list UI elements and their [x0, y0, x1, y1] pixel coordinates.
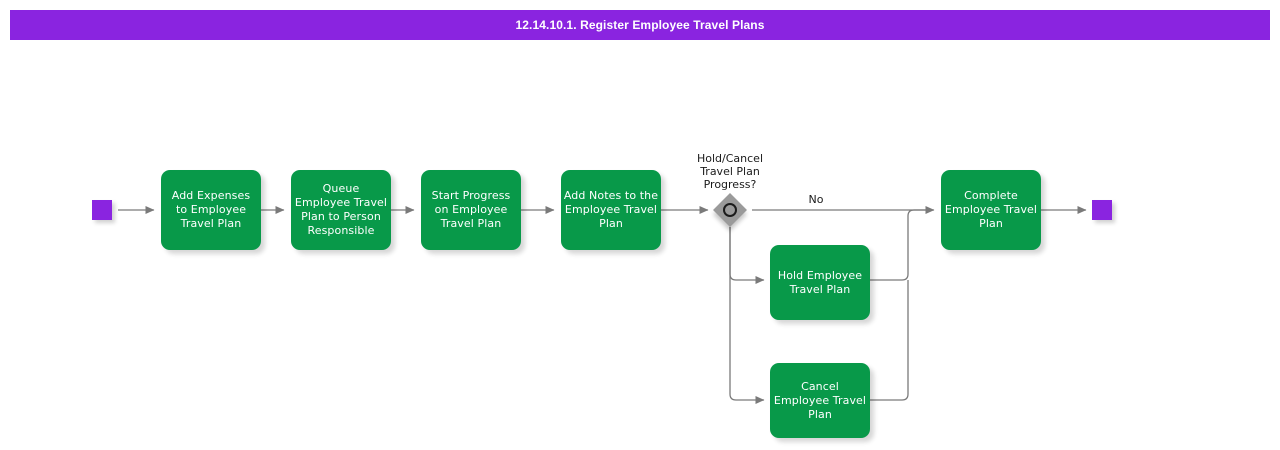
connector-gateway-to-cancel: [730, 227, 764, 400]
task-add-notes[interactable]: Add Notes to the Employee Travel Plan: [561, 170, 661, 250]
connector-hold-to-merge: [870, 210, 932, 280]
gateway-event-circle-icon: [723, 203, 737, 217]
task-label: Cancel Employee Travel Plan: [770, 380, 870, 422]
task-add-expenses[interactable]: Add Expenses to Employee Travel Plan: [161, 170, 261, 250]
start-event[interactable]: [92, 200, 112, 220]
task-cancel-plan[interactable]: Cancel Employee Travel Plan: [770, 363, 870, 438]
task-label: Add Notes to the Employee Travel Plan: [561, 189, 661, 231]
gateway-label: Hold/Cancel Travel Plan Progress?: [680, 152, 780, 191]
gateway-hold-cancel[interactable]: [713, 193, 747, 227]
connector-cancel-to-merge: [870, 280, 908, 400]
task-queue-person-responsible[interactable]: Queue Employee Travel Plan to Person Res…: [291, 170, 391, 250]
task-label: Complete Employee Travel Plan: [941, 189, 1041, 231]
task-label: Add Expenses to Employee Travel Plan: [161, 189, 261, 231]
connector-gateway-to-hold: [730, 227, 764, 280]
task-complete-plan[interactable]: Complete Employee Travel Plan: [941, 170, 1041, 250]
diagram-canvas: 12.14.10.1. Register Employee Travel Pla…: [0, 0, 1280, 450]
task-label: Queue Employee Travel Plan to Person Res…: [291, 182, 391, 238]
task-hold-plan[interactable]: Hold Employee Travel Plan: [770, 245, 870, 320]
task-start-progress[interactable]: Start Progress on Employee Travel Plan: [421, 170, 521, 250]
flow-label-no: No: [795, 193, 837, 206]
end-event[interactable]: [1092, 200, 1112, 220]
task-label: Start Progress on Employee Travel Plan: [421, 189, 521, 231]
task-label: Hold Employee Travel Plan: [770, 269, 870, 297]
